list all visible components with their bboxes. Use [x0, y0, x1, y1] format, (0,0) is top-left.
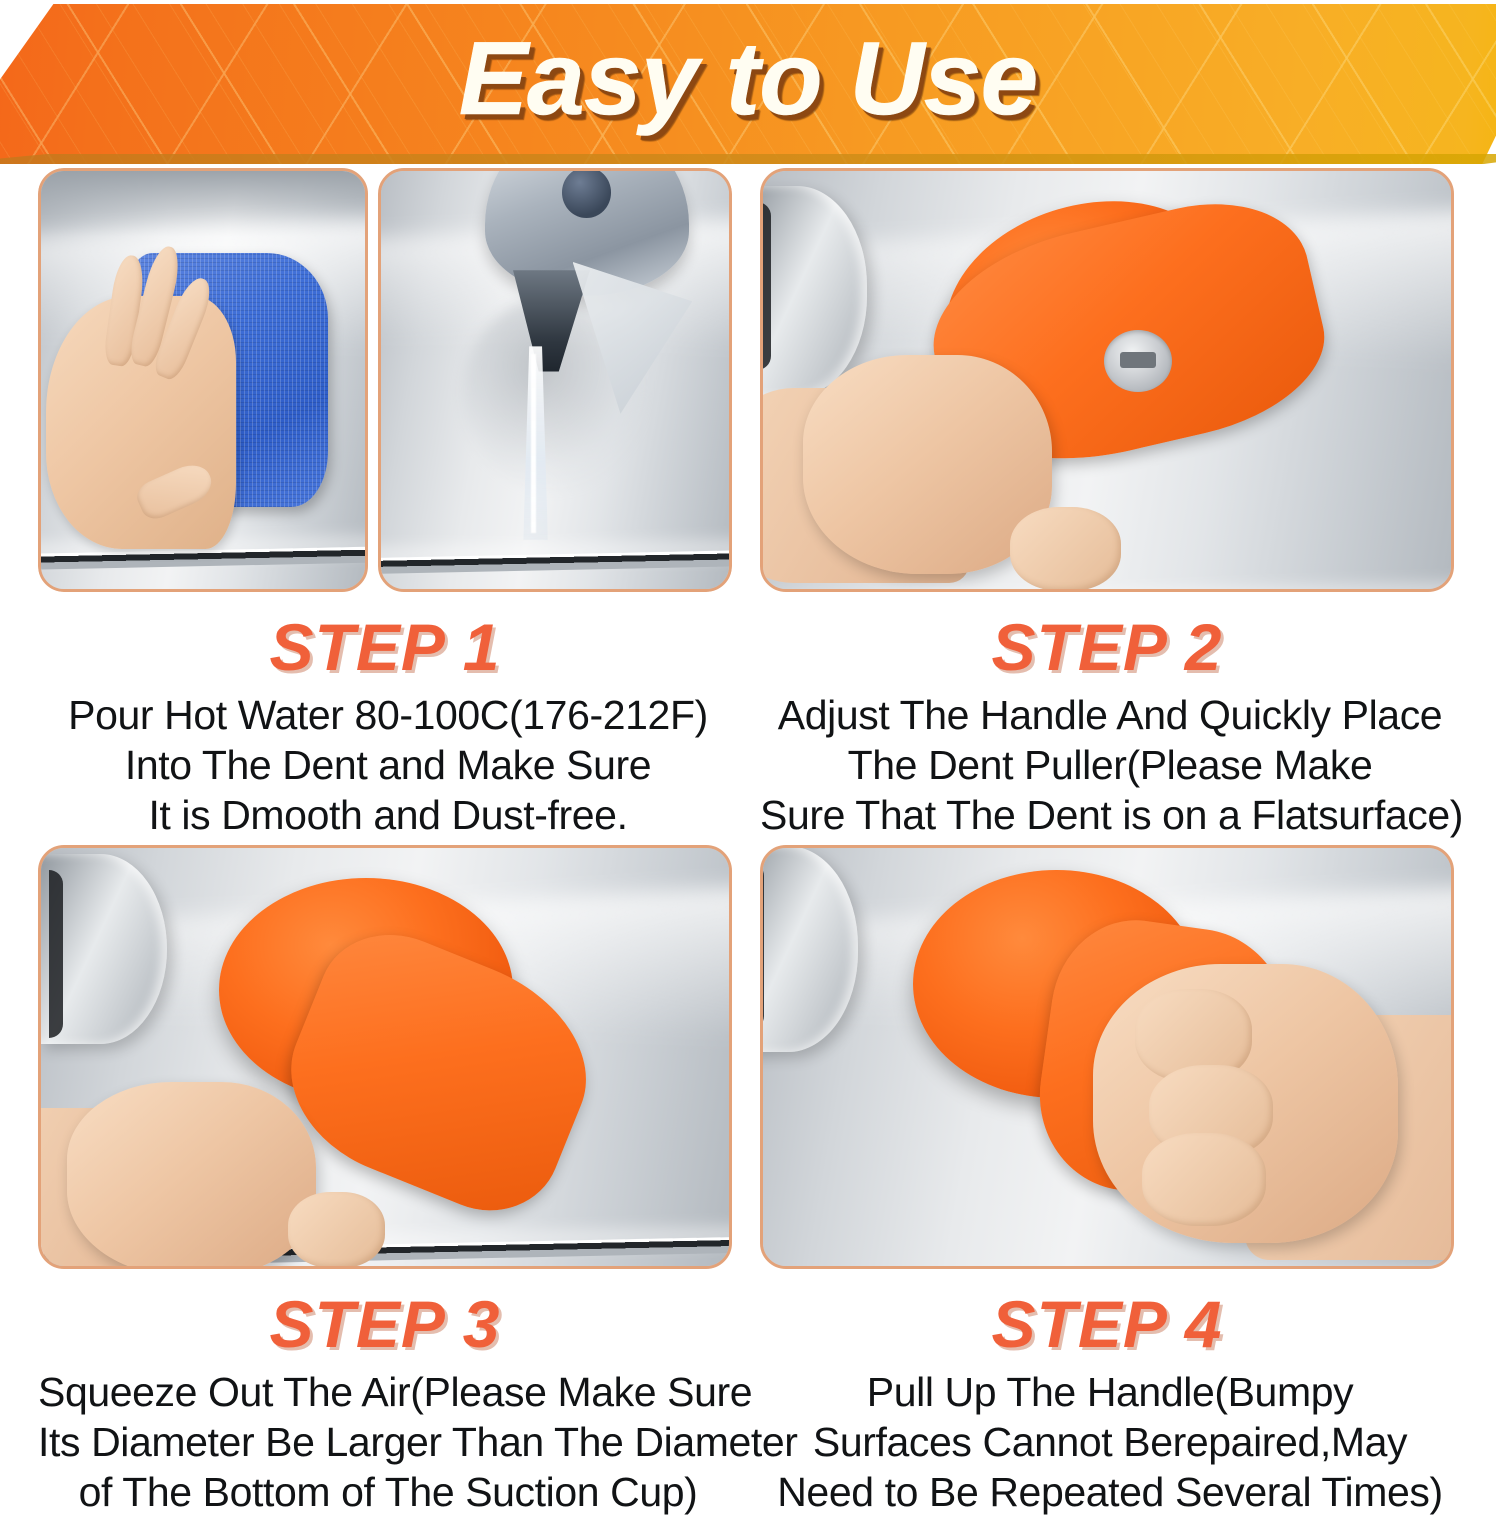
step-4-line-3: Need to Be Repeated Several Times)	[760, 1467, 1460, 1517]
step-3-description: Squeeze Out The Air(Please Make Sure Its…	[38, 1367, 738, 1517]
step-4-label: STEP 4	[760, 1287, 1454, 1361]
thumb	[132, 458, 217, 524]
step-4-line-1: Pull Up The Handle(Bumpy	[760, 1367, 1460, 1417]
car-body-backdrop	[39, 846, 731, 1268]
step-2-line-1: Adjust The Handle And Quickly Place	[760, 690, 1460, 740]
door-seam	[38, 546, 368, 570]
steps-grid: STEP 1 Pour Hot Water 80-100C(176-212F) …	[0, 168, 1496, 1496]
step-card-1: STEP 1 Pour Hot Water 80-100C(176-212F) …	[38, 168, 738, 840]
step-3-label: STEP 3	[38, 1287, 732, 1361]
step-1-photo-pour	[378, 168, 732, 592]
step-card-3: STEP 3 Squeeze Out The Air(Please Make S…	[38, 845, 738, 1517]
step-2-line-3: Sure That The Dent is on a Flatsurface)	[760, 790, 1460, 840]
infographic-page: Easy to Use	[0, 0, 1496, 1496]
car-body-backdrop	[761, 169, 1453, 591]
step-1-photo-wipe	[38, 168, 368, 592]
step-2-photo	[760, 168, 1454, 592]
step-2-description: Adjust The Handle And Quickly Place The …	[760, 690, 1460, 840]
header-banner: Easy to Use	[0, 0, 1496, 170]
step-3-photo	[38, 845, 732, 1269]
car-body-backdrop	[39, 169, 367, 591]
thumb	[288, 1192, 385, 1268]
car-body-backdrop	[761, 846, 1453, 1268]
step-1-line-1: Pour Hot Water 80-100C(176-212F)	[38, 690, 738, 740]
step-4-photo	[760, 845, 1454, 1269]
banner-underline	[0, 154, 1496, 164]
step-2-line-2: The Dent Puller(Please Make	[760, 740, 1460, 790]
page-title: Easy to Use	[0, 18, 1496, 140]
step-1-label: STEP 1	[38, 610, 732, 684]
car-body-backdrop	[379, 169, 731, 591]
step-card-2: STEP 2 Adjust The Handle And Quickly Pla…	[760, 168, 1460, 840]
step-1-line-2: Into The Dent and Make Sure	[38, 740, 738, 790]
step-4-line-2: Surfaces Cannot Berepaired,May	[760, 1417, 1460, 1467]
tool-valve-hub	[1104, 330, 1172, 392]
door-seam	[378, 550, 732, 574]
step-1-line-3: It is Dmooth and Dust-free.	[38, 790, 738, 840]
step-3-line-1: Squeeze Out The Air(Please Make Sure	[38, 1367, 738, 1417]
step-1-description: Pour Hot Water 80-100C(176-212F) Into Th…	[38, 690, 738, 840]
step-4-description: Pull Up The Handle(Bumpy Surfaces Cannot…	[760, 1367, 1460, 1517]
kettle-knob	[562, 168, 611, 218]
step-card-4: STEP 4 Pull Up The Handle(Bumpy Surfaces…	[760, 845, 1460, 1517]
step-3-line-3: of The Bottom of The Suction Cup)	[38, 1467, 738, 1517]
thumb	[1010, 507, 1121, 591]
step-3-line-2: Its Diameter Be Larger Than The Diameter	[38, 1417, 738, 1467]
hand-flat	[46, 296, 236, 549]
step-1-photo	[38, 168, 732, 592]
step-2-label: STEP 2	[760, 610, 1454, 684]
gripping-hand	[67, 1082, 316, 1269]
knuckle	[1142, 1133, 1267, 1226]
